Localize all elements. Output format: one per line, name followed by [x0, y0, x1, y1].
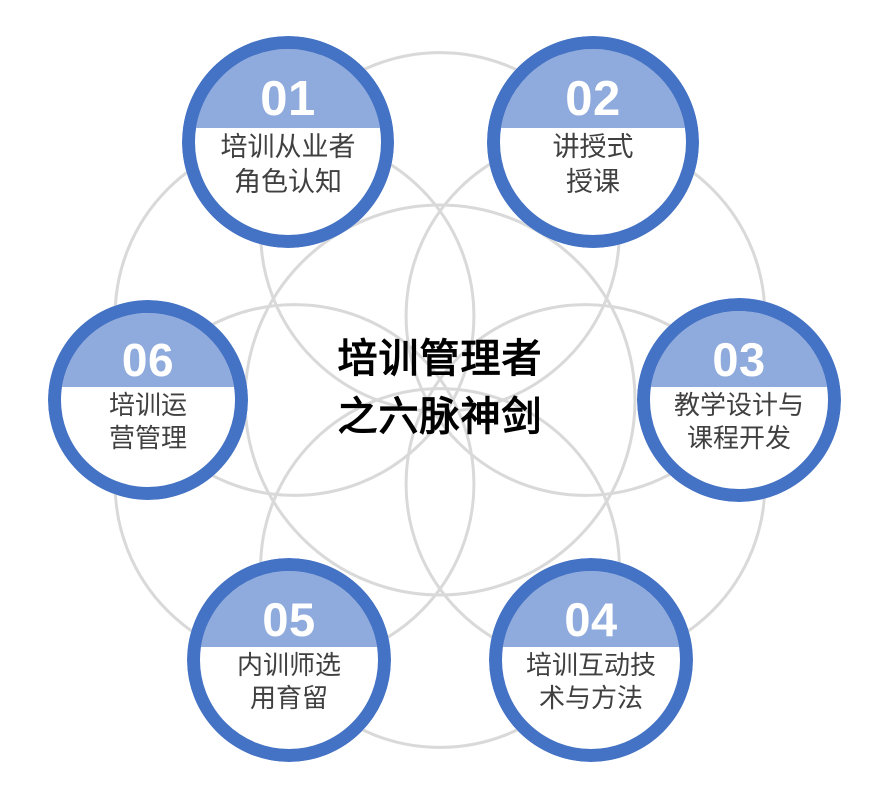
node-06-number-banner: 06 — [61, 313, 235, 387]
node-04-face: 04培训互动技 术与方法 — [502, 571, 680, 749]
node-03-label: 教学设计与 课程开发 — [650, 389, 828, 456]
node-03-number: 03 — [712, 336, 765, 383]
node-06-face: 06培训运 营管理 — [61, 313, 235, 487]
node-01-label: 培训从业者 角色认知 — [195, 130, 381, 199]
node-03-number-banner: 03 — [650, 311, 828, 387]
node-04-number: 04 — [564, 596, 617, 643]
node-03-face: 03教学设计与 课程开发 — [650, 311, 828, 489]
node-06-number: 06 — [122, 337, 174, 383]
node-04[interactable]: 04培训互动技 术与方法 — [489, 558, 693, 762]
node-01[interactable]: 01培训从业者 角色认知 — [182, 36, 394, 248]
node-05-label: 内训师选 用育留 — [200, 649, 378, 716]
diagram-canvas: 01培训从业者 角色认知02讲授式 授课03教学设计与 课程开发04培训互动技 … — [0, 0, 880, 807]
node-05-number-banner: 05 — [200, 571, 378, 647]
node-04-label: 培训互动技 术与方法 — [502, 649, 680, 716]
node-05-number: 05 — [262, 596, 315, 643]
node-02-face: 02讲授式 授课 — [500, 49, 686, 235]
node-05-face: 05内训师选 用育留 — [200, 571, 378, 749]
node-06-label: 培训运 营管理 — [61, 389, 235, 456]
node-05[interactable]: 05内训师选 用育留 — [187, 558, 391, 762]
node-06[interactable]: 06培训运 营管理 — [48, 300, 248, 500]
node-02-number: 02 — [565, 75, 621, 124]
node-03[interactable]: 03教学设计与 课程开发 — [637, 298, 841, 502]
node-01-number: 01 — [260, 75, 316, 124]
node-02-number-banner: 02 — [500, 49, 686, 128]
node-02-label: 讲授式 授课 — [500, 130, 686, 199]
node-02[interactable]: 02讲授式 授课 — [487, 36, 699, 248]
node-01-face: 01培训从业者 角色认知 — [195, 49, 381, 235]
node-01-number-banner: 01 — [195, 49, 381, 128]
center-title: 培训管理者 之六脉神剑 — [290, 330, 590, 446]
node-04-number-banner: 04 — [502, 571, 680, 647]
